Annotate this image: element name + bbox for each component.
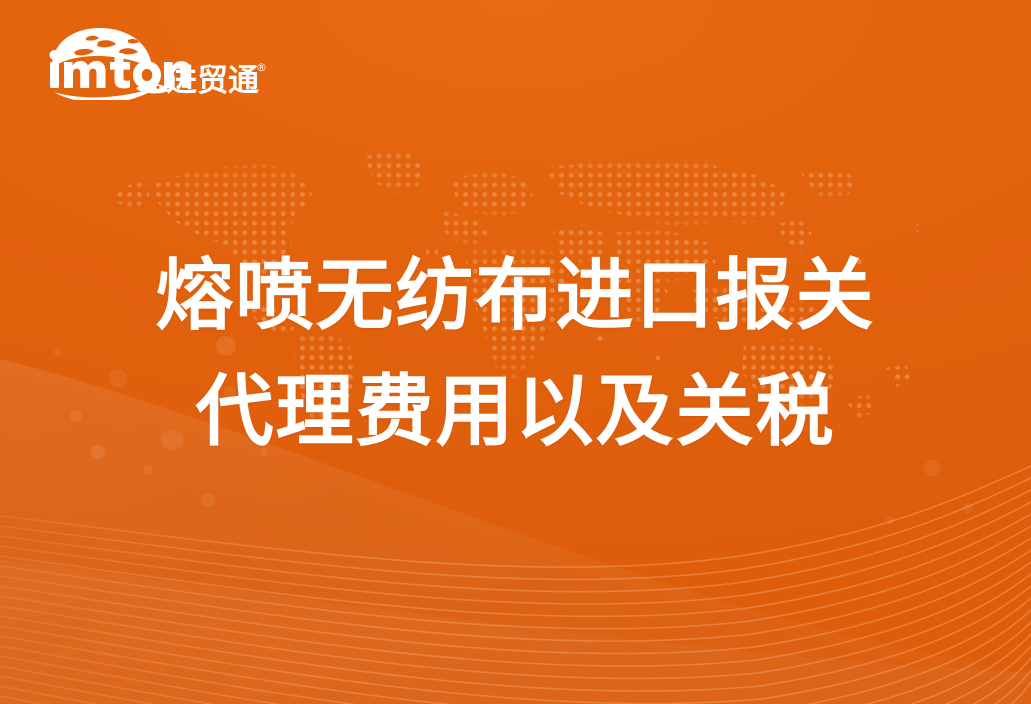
marketing-banner: 进贸通 ® 熔喷无纺布进口报关 代理费用以及关税 xyxy=(0,0,1031,704)
brand-logo[interactable]: 进贸通 ® xyxy=(40,26,216,100)
registered-trademark-icon: ® xyxy=(256,62,267,73)
headline-line-2: 代理费用以及关税 xyxy=(0,354,1031,470)
brand-logo-chinese-name: 进贸通 xyxy=(166,66,259,97)
headline: 熔喷无纺布进口报关 代理费用以及关税 xyxy=(0,238,1031,470)
headline-line-1: 熔喷无纺布进口报关 xyxy=(0,238,1031,354)
